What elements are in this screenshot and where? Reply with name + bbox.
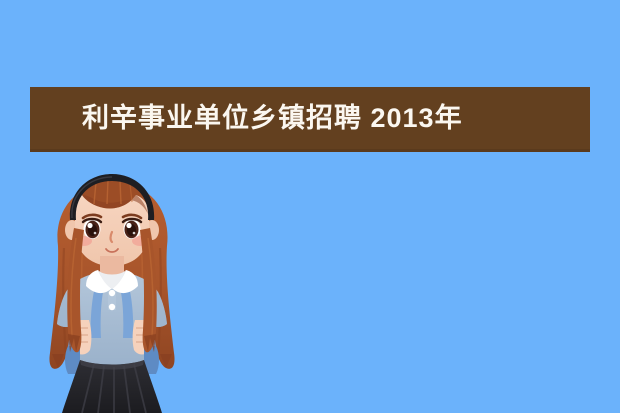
page-title: 利辛事业单位乡镇招聘 2013年 bbox=[82, 105, 463, 132]
schoolgirl-illustration bbox=[24, 168, 200, 413]
poster-canvas: 利辛事业单位乡镇招聘 2013年 bbox=[0, 0, 620, 413]
title-banner: 利辛事业单位乡镇招聘 2013年 bbox=[30, 87, 590, 152]
